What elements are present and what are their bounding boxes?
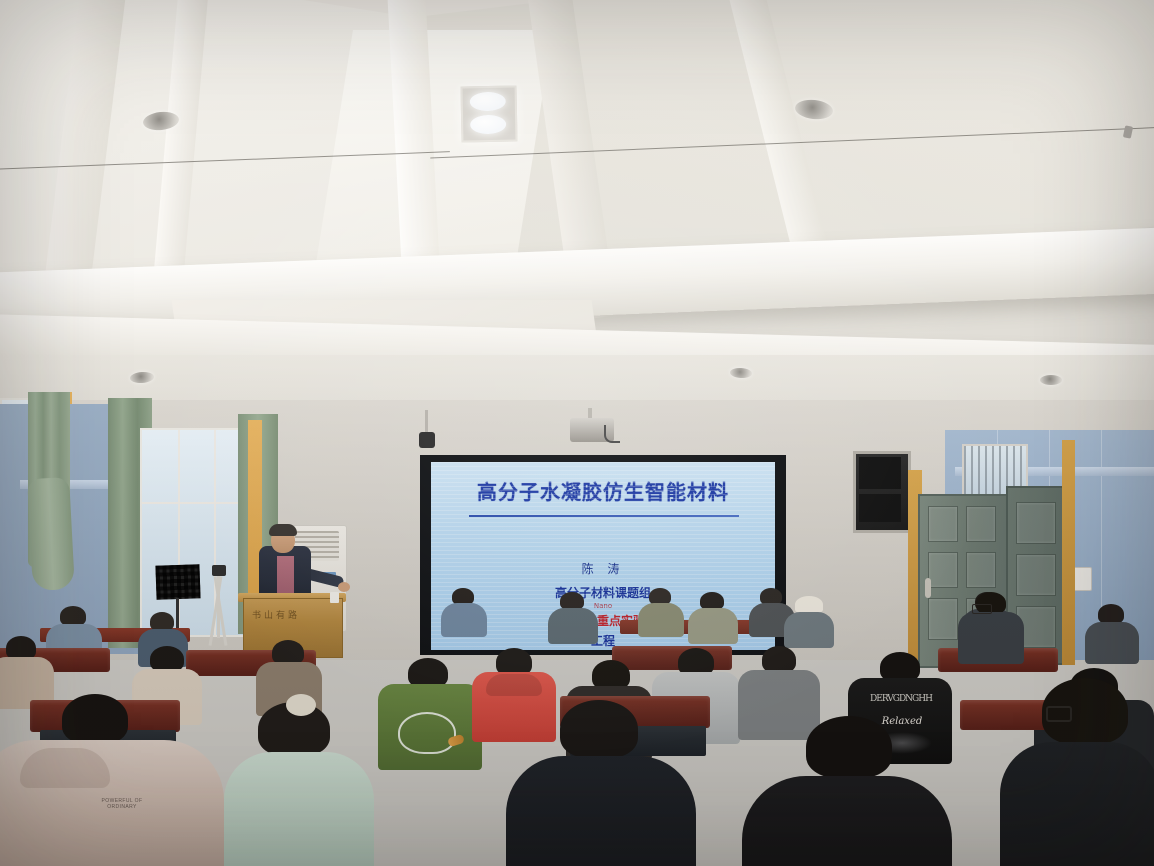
jacket-print-relaxed: Relaxed [876,716,928,728]
window-left-near [140,428,254,637]
slide-divider-rule [469,515,739,517]
projector-cable [604,425,620,443]
troffer-light-icon [461,86,518,143]
camera-on-tripod-icon [212,565,226,576]
security-camera-icon [419,432,435,448]
hoodie-chest-print: POWERFUL OFORDINARY [95,798,149,810]
water-cup [330,592,339,603]
light-switch[interactable] [1073,567,1092,591]
podium-inscription: 书山有路 [252,608,332,626]
slide-speaker-name: 陈 涛 [431,560,775,577]
jacket-cat-graphic [398,712,456,754]
lecture-hall-photo: 高分子水凝胶仿生智能材料 陈 涛 高分子材料课题组 Nano 材料技术重点实验室… [0,0,1154,866]
curtain-tieback [27,477,75,591]
door-frame-right [1062,440,1075,665]
slide-title: 高分子水凝胶仿生智能材料 [431,476,775,505]
jacket-gothic-text: DERVGDNGHH [866,694,936,706]
eyeglasses-icon [972,604,992,614]
speaker-hair [269,524,297,536]
speaker-hand [338,582,350,592]
hoodie-hood [486,674,542,696]
music-stand [155,564,200,600]
eyeglasses-icon [1046,706,1072,722]
tripod-leg [217,576,220,638]
wall-loudspeaker-icon [853,451,911,533]
hair-scrunchie [286,694,316,716]
hoodie-hood [20,748,110,788]
camera-mount-arm [425,410,428,434]
door-handle-icon[interactable] [925,578,931,598]
downlight-icon [1040,375,1062,385]
